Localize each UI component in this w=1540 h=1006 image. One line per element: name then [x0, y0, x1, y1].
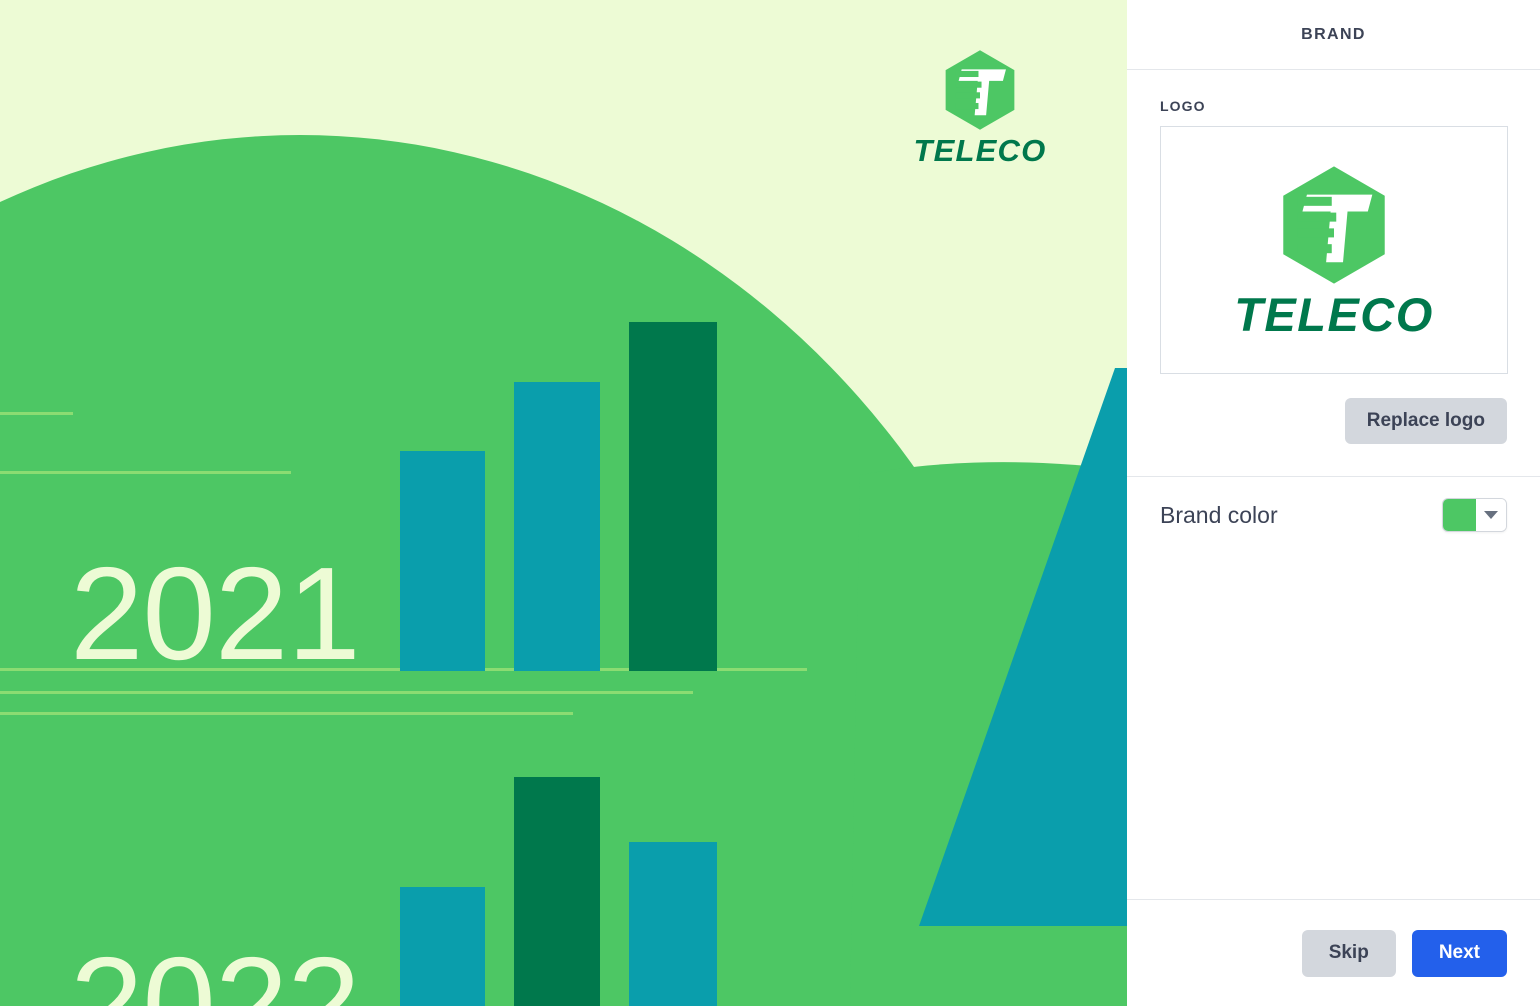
logo-section-label: LOGO	[1160, 98, 1507, 114]
bar-2022-2	[514, 777, 600, 1006]
teleco-hexagon-logo-icon	[941, 48, 1019, 132]
logo-section: LOGO TELECO Replace logo	[1127, 70, 1540, 444]
section-gap	[1127, 444, 1540, 476]
brand-color-label: Brand color	[1160, 502, 1278, 529]
bar-2022-1	[400, 887, 485, 1006]
panel-title: BRAND	[1301, 26, 1366, 44]
decor-line-4	[0, 691, 693, 694]
bar-2021-3	[629, 322, 717, 671]
preview-logo-wordmark: TELECO	[912, 135, 1048, 166]
panel-header: BRAND	[1127, 0, 1540, 70]
teleco-hexagon-logo-icon	[1272, 163, 1396, 287]
preview-year-label-2022: 2022	[70, 938, 360, 1006]
replace-logo-button[interactable]: Replace logo	[1345, 398, 1507, 444]
brand-color-picker[interactable]	[1442, 498, 1507, 532]
template-preview-canvas[interactable]: 2021 2022 TELECO	[0, 0, 1127, 1006]
skip-button[interactable]: Skip	[1302, 930, 1396, 977]
brand-color-row: Brand color	[1127, 477, 1540, 553]
bar-2022-3	[629, 842, 717, 1006]
replace-logo-row: Replace logo	[1160, 398, 1507, 444]
panel-footer: Skip Next	[1127, 899, 1540, 1006]
logo-preview-box[interactable]: TELECO	[1160, 126, 1508, 374]
decor-line-5	[0, 712, 573, 715]
decor-line-1	[0, 412, 73, 415]
chevron-down-icon	[1484, 511, 1498, 519]
panel-spacer	[1127, 553, 1540, 899]
next-button[interactable]: Next	[1412, 930, 1507, 977]
brand-color-dropdown-toggle[interactable]	[1476, 499, 1506, 531]
bar-2021-2	[514, 382, 600, 671]
brand-settings-panel: BRAND LOGO TELECO Replace logo	[1127, 0, 1540, 1006]
preview-year-label-2021: 2021	[70, 548, 360, 680]
decor-line-2	[0, 471, 291, 474]
bar-2021-1	[400, 451, 485, 671]
brand-onboarding-screen: 2021 2022 TELECO BRAND LOGO	[0, 0, 1540, 1006]
logo-preview-wordmark: TELECO	[1234, 291, 1434, 338]
brand-color-swatch[interactable]	[1443, 499, 1476, 531]
preview-logo-lockup[interactable]: TELECO	[912, 48, 1048, 166]
